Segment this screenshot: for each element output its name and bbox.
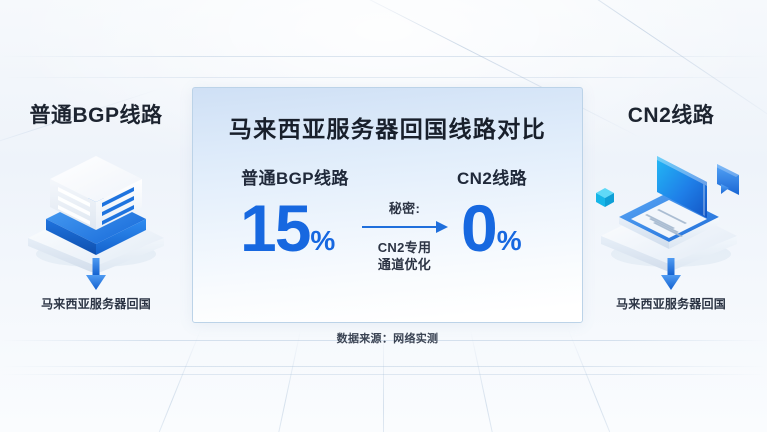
optimization-note-line2: 通道优化 <box>353 256 456 273</box>
metric-unit-cn2: % <box>497 230 522 255</box>
right-column: CN2线路 <box>575 0 767 432</box>
optimization-note-line1: CN2专用 <box>353 239 456 256</box>
metric-label-cn2: CN2线路 <box>412 164 572 189</box>
optimization-note: CN2专用 通道优化 <box>353 239 456 273</box>
infographic-canvas: 普通BGP线路 <box>0 0 767 432</box>
metric-unit-bgp: % <box>310 230 335 255</box>
left-column: 普通BGP线路 <box>0 0 192 432</box>
panel-title: 马来西亚服务器回国线路对比 <box>193 110 582 144</box>
comparison-panel: 马来西亚服务器回国线路对比 普通BGP线路 CN2线路 15 % 0 % 秘密:… <box>192 87 583 323</box>
metric-value-cn2: 0 % <box>461 201 522 255</box>
left-column-caption: 马来西亚服务器回国 <box>0 295 192 312</box>
metric-label-bgp: 普通BGP线路 <box>205 164 385 189</box>
right-column-caption: 马来西亚服务器回国 <box>575 295 767 312</box>
secret-label: 秘密: <box>353 198 456 217</box>
arrow-head <box>436 221 448 233</box>
left-column-title: 普通BGP线路 <box>0 99 192 129</box>
down-arrow-icon <box>85 258 107 292</box>
isometric-server-icon <box>16 142 176 272</box>
transition-annotation: 秘密: CN2专用 通道优化 <box>353 198 456 273</box>
data-source-note: 数据来源：网络实测 <box>192 330 583 346</box>
down-arrow-icon <box>660 258 682 292</box>
right-arrow-icon <box>362 221 448 233</box>
arrow-shaft <box>362 226 438 228</box>
metric-value-bgp: 15 % <box>240 201 335 255</box>
metric-number-bgp: 15 <box>240 201 309 255</box>
right-column-title: CN2线路 <box>575 99 767 129</box>
metric-number-cn2: 0 <box>461 201 496 255</box>
cyan-cube-icon <box>596 188 614 207</box>
isometric-laptop-icon <box>591 142 751 272</box>
